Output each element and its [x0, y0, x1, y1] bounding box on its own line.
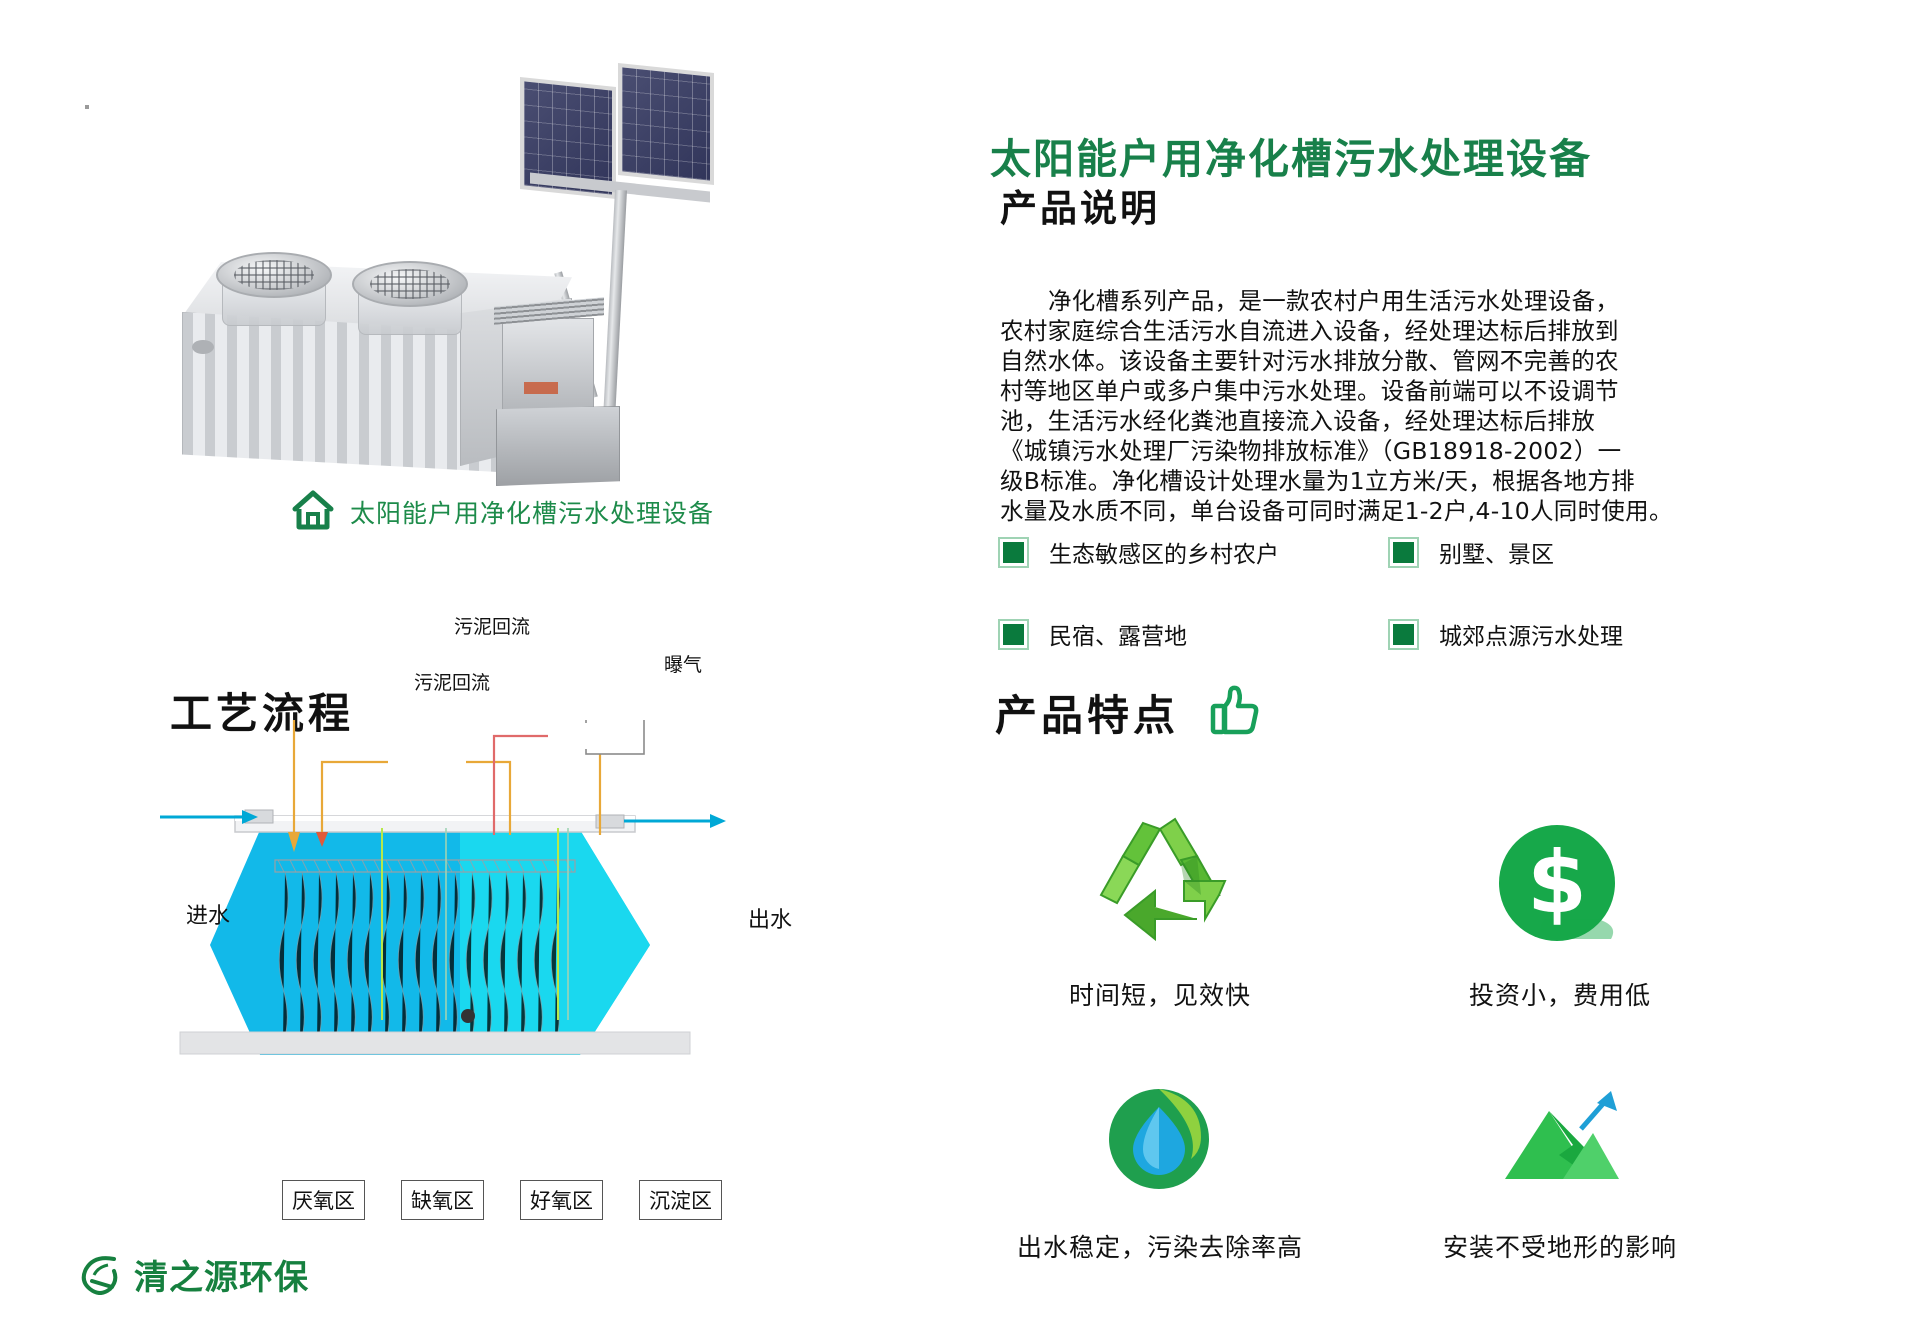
application-label: 生态敏感区的乡村农户: [1049, 535, 1279, 569]
thumbs-up-icon: [1205, 680, 1265, 744]
description-line: 《城镇污水处理厂污染物排放标准》（GB18918-2002）一: [1000, 436, 1760, 466]
feature-label: 时间短，见效快: [1069, 976, 1251, 1012]
feature-item: $ 投资小，费用低: [1360, 810, 1760, 1012]
dollar-icon: $: [1485, 810, 1635, 960]
flow-zone-tag: 沉淀区: [639, 1180, 722, 1220]
footer-brand-text: 清之源环保: [134, 1250, 309, 1299]
svg-text:$: $: [1527, 833, 1587, 933]
flow-label-inlet: 进水: [186, 898, 230, 930]
description-line: 净化槽系列产品，是一款农村户用生活污水处理设备，: [1000, 286, 1760, 316]
flow-label-sludge-return-upper: 污泥回流: [448, 612, 536, 639]
tank-lid-left: [216, 252, 332, 298]
process-flow-diagram: [150, 720, 870, 1240]
feature-label: 安装不受地形的影响: [1443, 1228, 1677, 1264]
application-label: 别墅、景区: [1439, 535, 1554, 569]
feature-item: 时间短，见效快: [960, 810, 1360, 1012]
green-square-icon: [1000, 539, 1027, 566]
description-line: 水量及水质不同，单台设备可同时满足1-2户,4-10人同时使用。: [1000, 496, 1760, 526]
feature-label: 出水稳定，污染去除率高: [1017, 1228, 1303, 1264]
application-item: 城郊点源污水处理: [1390, 617, 1780, 651]
features-heading-text: 产品特点: [995, 682, 1179, 743]
flow-zone-tags: 厌氧区 缺氧区 好氧区 沉淀区: [282, 1180, 722, 1220]
feature-label: 投资小，费用低: [1469, 976, 1651, 1012]
mountain-icon: [1485, 1062, 1635, 1212]
green-square-icon: [1000, 621, 1027, 648]
photo-speck: [85, 105, 89, 109]
solar-panel-right: [618, 63, 714, 185]
equipment-base-pedestal: [496, 406, 620, 486]
description-heading: 产品说明: [1000, 178, 1160, 232]
description-line: 自然水体。该设备主要针对污水排放分散、管网不完善的农: [1000, 346, 1760, 376]
description-line: 村等地区单户或多户集中污水处理。设备前端可以不设调节: [1000, 376, 1760, 406]
home-icon: [290, 487, 336, 537]
page-title: 太阳能户用净化槽污水处理设备: [990, 125, 1592, 185]
feature-item: 安装不受地形的影响: [1360, 1062, 1760, 1264]
recycle-icon: [1085, 810, 1235, 960]
cabinet-warning-label: [524, 382, 558, 394]
leaf-q-logo-icon: [78, 1251, 122, 1299]
feature-item: 出水稳定，污染去除率高: [960, 1062, 1360, 1264]
brochure-page: 太阳能户用净化槽污水处理设备 太阳能户用净化槽污水处理设备 产品说明 净化槽系列…: [0, 0, 1920, 1329]
photo-caption: 太阳能户用净化槽污水处理设备: [290, 487, 714, 537]
description-line: 级B标准。净化槽设计处理水量为1立方米/天，根据各地方排: [1000, 466, 1760, 496]
application-label: 城郊点源污水处理: [1439, 617, 1623, 651]
application-item: 别墅、景区: [1390, 535, 1780, 569]
water-drop-leaf-icon: [1085, 1062, 1235, 1212]
green-square-icon: [1390, 539, 1417, 566]
application-item: 民宿、露营地: [1000, 617, 1390, 651]
description-body: 净化槽系列产品，是一款农村户用生活污水处理设备， 农村家庭综合生活污水自流进入设…: [1000, 286, 1760, 526]
application-label: 民宿、露营地: [1049, 617, 1187, 651]
flow-label-sludge-return-lower: 污泥回流: [408, 668, 496, 695]
description-line: 池，生活污水经化粪池直接流入设备，经处理达标后排放: [1000, 406, 1760, 436]
footer-logo: 清之源环保: [78, 1250, 309, 1299]
photo-caption-text: 太阳能户用净化槽污水处理设备: [350, 494, 714, 530]
tank-lid-right: [352, 261, 468, 307]
flow-label-aeration: 曝气: [658, 650, 708, 677]
flow-label-outlet: 出水: [748, 902, 792, 934]
flow-zone-tag: 缺氧区: [401, 1180, 484, 1220]
flow-zone-tag: 厌氧区: [282, 1180, 365, 1220]
description-line: 农村家庭综合生活污水自流进入设备，经处理达标后排放到: [1000, 316, 1760, 346]
features-list: 时间短，见效快 $ 投资小，费用低: [960, 810, 1760, 1264]
flow-zone-tag: 好氧区: [520, 1180, 603, 1220]
green-square-icon: [1390, 621, 1417, 648]
application-item: 生态敏感区的乡村农户: [1000, 535, 1390, 569]
application-list: 生态敏感区的乡村农户 别墅、景区 民宿、露营地 城郊点源污水处理: [1000, 535, 1800, 651]
control-cabinet: [502, 318, 594, 410]
features-section-heading: 产品特点: [995, 680, 1265, 744]
tank-inlet-port: [192, 340, 214, 354]
